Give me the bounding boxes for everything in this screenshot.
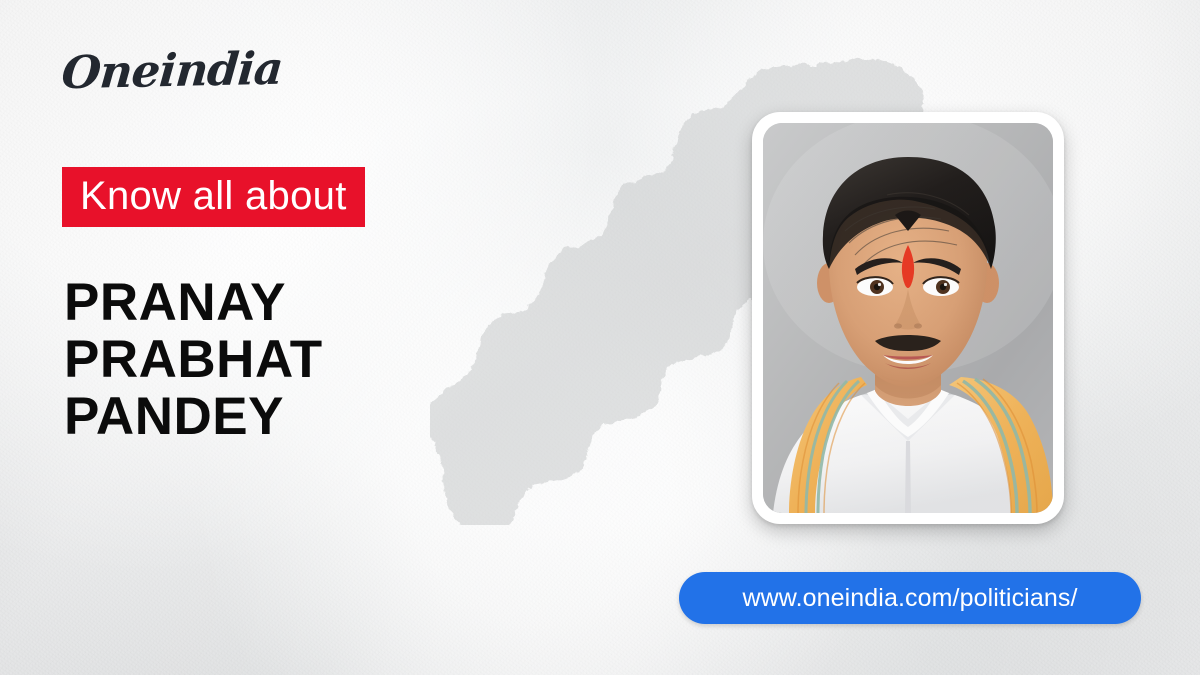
oneindia-logo[interactable]: Oneindia <box>60 46 284 96</box>
name-line-1: PRANAY <box>64 274 484 331</box>
know-all-about-banner: Know all about <box>62 167 365 227</box>
banner-label: Know all about <box>80 175 347 217</box>
website-url-label: www.oneindia.com/politicians/ <box>742 584 1077 613</box>
politician-photo <box>763 123 1053 513</box>
website-url-button[interactable]: www.oneindia.com/politicians/ <box>679 572 1141 624</box>
name-line-3: PANDEY <box>64 388 484 445</box>
portrait-card <box>752 112 1064 524</box>
promo-card: Oneindia Know all about PRANAY PRABHAT P… <box>0 0 1200 675</box>
page-title: PRANAY PRABHAT PANDEY <box>64 274 484 446</box>
portrait-frame <box>763 123 1053 513</box>
name-line-2: PRABHAT <box>64 331 484 388</box>
